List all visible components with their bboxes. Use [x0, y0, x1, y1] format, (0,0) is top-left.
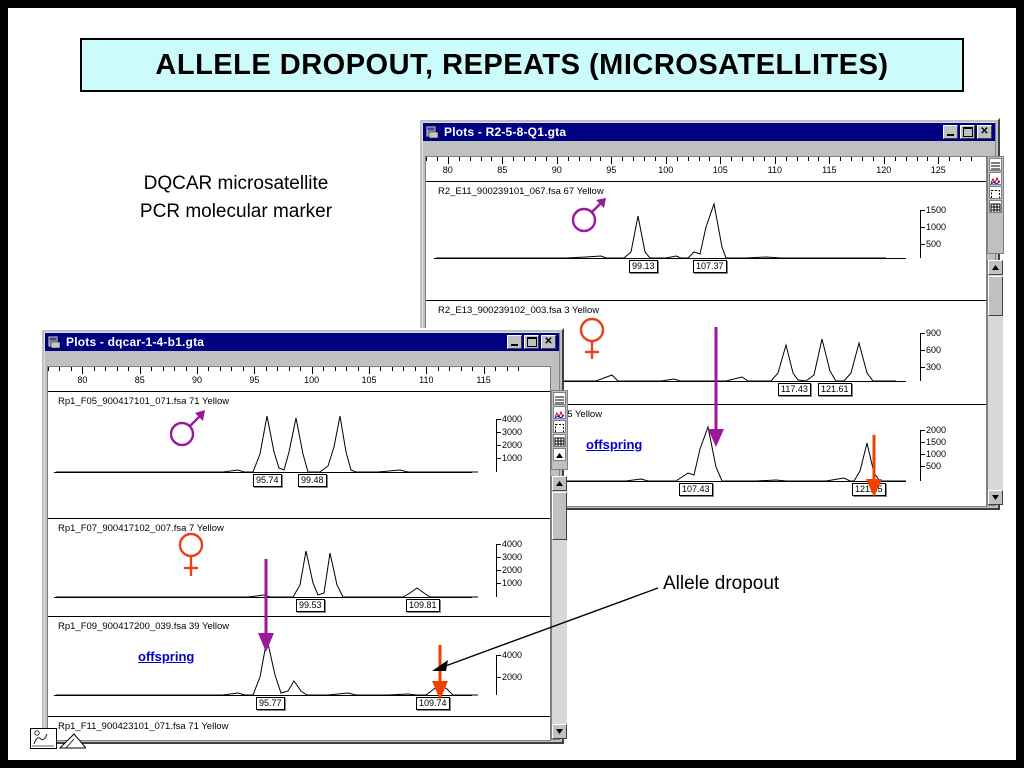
close-button-back[interactable]: ✕ [977, 125, 992, 139]
trace-baseline-3-front [54, 695, 472, 696]
ruler-minor-tick [742, 157, 743, 161]
ruler-major-tick [720, 157, 721, 164]
toolstrip-front [45, 352, 559, 365]
ruler-label: 110 [768, 165, 782, 175]
ruler-major-tick [938, 157, 939, 164]
ruler-minor-tick [960, 157, 961, 161]
trace-panel-3-front[interactable]: Rp1_F09_900417200_039.fsa 39 Yellow offs… [48, 617, 550, 715]
ruler-label: 120 [876, 165, 891, 175]
ruler-minor-tick [513, 157, 514, 161]
ruler-major-tick [197, 367, 198, 374]
grid-view-icon[interactable] [989, 200, 1002, 213]
ruler-minor-tick [677, 157, 678, 161]
ruler-minor-tick [300, 367, 301, 371]
ruler-minor-tick [346, 367, 347, 371]
ruler-minor-tick [323, 367, 324, 371]
trace-view-icon[interactable] [989, 172, 1002, 185]
ruler-minor-tick [128, 367, 129, 371]
ruler-minor-tick [392, 367, 393, 371]
ruler-major-tick [502, 157, 503, 164]
offspring-link-back[interactable]: offspring [586, 437, 642, 452]
allele-call-2-1-front: 99.53 [296, 599, 325, 612]
plots-window-dqcar-1-4-b1[interactable]: Plots - dqcar-1-4-b1.gta ✕ 8085909510010… [40, 328, 564, 744]
ruler-major-tick [254, 367, 255, 374]
toolstrip-back [423, 142, 995, 155]
ruler-major-tick [884, 157, 885, 164]
ruler-minor-tick [688, 157, 689, 161]
ruler-minor-tick [507, 367, 508, 371]
ruler-minor-tick [231, 367, 232, 371]
ruler-label: 125 [931, 165, 946, 175]
ruler-minor-tick [243, 367, 244, 371]
trace-panel-1-back[interactable]: R2_E11_900239101_067.fsa 67 Yellow 99.13… [426, 182, 986, 275]
ruler-minor-tick [495, 367, 496, 371]
ruler-minor-tick [862, 157, 863, 161]
ruler-minor-tick [415, 367, 416, 371]
scroll-down-button-back[interactable] [988, 490, 1003, 505]
allele-call-3-1-front: 95.77 [256, 697, 285, 710]
ruler-label: 100 [658, 165, 673, 175]
slide-canvas: ALLELE DROPOUT, REPEATS (MICROSATELLITES… [8, 8, 1016, 760]
ruler-minor-tick [906, 157, 907, 161]
ruler-major-tick [312, 367, 313, 374]
allele-call-1-1-front: 95.74 [253, 474, 282, 487]
allele-call-2-2-front: 109.81 [406, 599, 440, 612]
ruler-minor-tick [470, 157, 471, 161]
list-view-icon[interactable] [989, 158, 1002, 171]
ruler-major-tick [426, 367, 427, 374]
ruler-minor-tick [208, 367, 209, 371]
ruler-label: 80 [443, 165, 453, 175]
ruler-minor-tick [163, 367, 164, 371]
minimize-button-front[interactable] [507, 335, 522, 349]
close-button-front[interactable]: ✕ [541, 335, 556, 349]
window-controls-front[interactable]: ✕ [507, 335, 557, 349]
ruler-minor-tick [895, 157, 896, 161]
ruler-label: 95 [606, 165, 616, 175]
plots-document-icon [426, 126, 440, 139]
up-arrow-icon-front[interactable] [553, 448, 566, 461]
ruler-minor-tick [709, 157, 710, 161]
maximize-button-front[interactable] [524, 335, 539, 349]
titlebar-front[interactable]: Plots - dqcar-1-4-b1.gta ✕ [45, 333, 559, 351]
ruler-minor-tick [437, 157, 438, 161]
ruler-label: 105 [713, 165, 728, 175]
trace-panel-4-front[interactable]: Rp1_F11_900423101_071.fsa 71 Yellow [48, 717, 550, 740]
trace-view-icon-front[interactable] [553, 406, 566, 419]
ruler-minor-tick [289, 367, 290, 371]
allele-call-2-1-back: 117.43 [778, 383, 811, 396]
ruler-minor-tick [186, 367, 187, 371]
trace-baseline-1-back [434, 258, 906, 259]
list-view-icon-front[interactable] [553, 392, 566, 405]
ruler-minor-tick [266, 367, 267, 371]
ruler-minor-tick [699, 157, 700, 161]
ruler-major-tick [369, 367, 370, 374]
vertical-scrollbar-front[interactable] [551, 476, 567, 739]
ruler-minor-tick [786, 157, 787, 161]
ruler-minor-tick [949, 157, 950, 161]
minimize-button-back[interactable] [943, 125, 958, 139]
allele-call-1-1-back: 99.13 [629, 260, 658, 273]
window-controls-back[interactable]: ✕ [943, 125, 993, 139]
ruler-major-tick [140, 367, 141, 374]
ruler-minor-tick [481, 157, 482, 161]
ruler-minor-tick [917, 157, 918, 161]
ruler-major-tick [448, 157, 449, 164]
size-ruler-front: 80859095100105110115 [48, 367, 550, 392]
ruler-minor-tick [568, 157, 569, 161]
ruler-minor-tick [449, 367, 450, 371]
page-title: ALLELE DROPOUT, REPEATS (MICROSATELLITES… [155, 49, 888, 82]
select-region-icon[interactable] [989, 186, 1002, 199]
scroll-thumb-back[interactable] [988, 276, 1003, 316]
size-ruler-back: 80859095100105110115120125 [426, 157, 986, 182]
ruler-minor-tick [524, 157, 525, 161]
grid-view-icon-front[interactable] [553, 434, 566, 447]
ruler-minor-tick [622, 157, 623, 161]
ruler-minor-tick [808, 157, 809, 161]
ruler-minor-tick [59, 367, 60, 371]
trace-baseline-1-front [54, 472, 472, 473]
plot-tools-front[interactable] [551, 390, 568, 470]
trace-panel-1-front[interactable]: Rp1_F05_900417101_071.fsa 71 Yellow 95.7… [48, 392, 550, 490]
maximize-button-back[interactable] [960, 125, 975, 139]
ruler-minor-tick [48, 367, 49, 371]
caption-line-2: PCR molecular marker [86, 198, 386, 226]
ruler-minor-tick [840, 157, 841, 161]
ruler-minor-tick [818, 157, 819, 161]
ruler-major-tick [611, 157, 612, 164]
ruler-major-tick [829, 157, 830, 164]
ruler-minor-tick [873, 157, 874, 161]
ruler-label: 115 [476, 375, 490, 385]
ruler-minor-tick [851, 157, 852, 161]
scroll-thumb-front[interactable] [552, 492, 567, 540]
ruler-minor-tick [459, 157, 460, 161]
ruler-minor-tick [590, 157, 591, 161]
sample-label-2-back: R2_E13_900239102_003.fsa 3 Yellow [438, 305, 599, 316]
ruler-minor-tick [971, 157, 972, 161]
plot-client-area-front[interactable]: 80859095100105110115 Rp1_F05_900417101_0… [47, 366, 551, 741]
ruler-label: 85 [497, 165, 507, 175]
ruler-major-tick [82, 367, 83, 374]
ruler-minor-tick [546, 157, 547, 161]
ruler-minor-tick [753, 157, 754, 161]
allele-call-3-2-front: 109.74 [416, 697, 450, 710]
allele-call-3-2-back: 121.65 [852, 483, 886, 496]
female-symbol-front [175, 529, 207, 583]
ruler-label: 80 [77, 375, 87, 385]
ruler-minor-tick [358, 367, 359, 371]
allele-call-1-2-back: 107.37 [693, 260, 727, 273]
ruler-minor-tick [403, 367, 404, 371]
ruler-minor-tick [380, 367, 381, 371]
allele-call-3-1-back: 107.43 [679, 483, 713, 496]
ruler-minor-tick [655, 157, 656, 161]
ruler-label: 100 [304, 375, 319, 385]
ruler-minor-tick [426, 157, 427, 161]
ruler-minor-tick [633, 157, 634, 161]
ruler-label: 115 [822, 165, 836, 175]
male-symbol-front [166, 406, 210, 448]
scroll-up-button-front[interactable] [552, 476, 567, 491]
ruler-minor-tick [335, 367, 336, 371]
ruler-minor-tick [438, 367, 439, 371]
scroll-up-button-back[interactable] [988, 260, 1003, 275]
ruler-minor-tick [117, 367, 118, 371]
ruler-minor-tick [174, 367, 175, 371]
trace-panel-2-front[interactable]: Rp1_F07_900417102_007.fsa 7 Yellow 99.53… [48, 519, 550, 615]
ruler-minor-tick [461, 367, 462, 371]
scroll-down-button-front[interactable] [552, 724, 567, 739]
ruler-label: 95 [249, 375, 259, 385]
ruler-minor-tick [94, 367, 95, 371]
offspring-link-front[interactable]: offspring [138, 649, 194, 664]
titlebar-back[interactable]: Plots - R2-5-8-Q1.gta ✕ [423, 123, 995, 141]
ruler-minor-tick [71, 367, 72, 371]
female-symbol-back [576, 315, 608, 365]
caption-line-1: DQCAR microsatellite [86, 170, 386, 198]
ruler-minor-tick [600, 157, 601, 161]
plots-document-icon-front [48, 336, 62, 349]
ruler-minor-tick [518, 367, 519, 371]
caption-block: DQCAR microsatellite PCR molecular marke… [86, 170, 386, 225]
slide-title-box: ALLELE DROPOUT, REPEATS (MICROSATELLITES… [80, 38, 964, 92]
ruler-major-tick [666, 157, 667, 164]
window-title-front: Plots - dqcar-1-4-b1.gta [66, 335, 204, 349]
ruler-major-tick [775, 157, 776, 164]
ruler-major-tick [557, 157, 558, 164]
ruler-minor-tick [472, 367, 473, 371]
ruler-label: 110 [419, 375, 433, 385]
male-symbol-back [568, 194, 610, 234]
trace-baseline-2-front [54, 597, 472, 598]
allele-call-1-2-front: 99.48 [298, 474, 327, 487]
allele-dropout-annotation: Allele dropout [663, 573, 779, 595]
ruler-minor-tick [151, 367, 152, 371]
vertical-scrollbar-back[interactable] [987, 260, 1003, 505]
ruler-minor-tick [927, 157, 928, 161]
select-region-icon-front[interactable] [553, 420, 566, 433]
ruler-minor-tick [491, 157, 492, 161]
ruler-minor-tick [797, 157, 798, 161]
ruler-label: 90 [192, 375, 202, 385]
allele-call-2-2-back: 121.61 [818, 383, 852, 396]
ruler-minor-tick [105, 367, 106, 371]
ruler-label: 105 [361, 375, 376, 385]
ruler-minor-tick [277, 367, 278, 371]
ruler-label: 90 [552, 165, 562, 175]
ruler-minor-tick [220, 367, 221, 371]
ruler-minor-tick [579, 157, 580, 161]
ruler-major-tick [484, 367, 485, 374]
ruler-minor-tick [731, 157, 732, 161]
window-title-back: Plots - R2-5-8-Q1.gta [444, 125, 566, 139]
ruler-minor-tick [764, 157, 765, 161]
ruler-minor-tick [535, 157, 536, 161]
ruler-label: 85 [135, 375, 145, 385]
ruler-minor-tick [644, 157, 645, 161]
presentation-corner-icon[interactable] [30, 728, 86, 750]
plot-tools-back[interactable] [987, 156, 1004, 254]
sample-label-3-front: Rp1_F09_900417200_039.fsa 39 Yellow [58, 621, 229, 632]
